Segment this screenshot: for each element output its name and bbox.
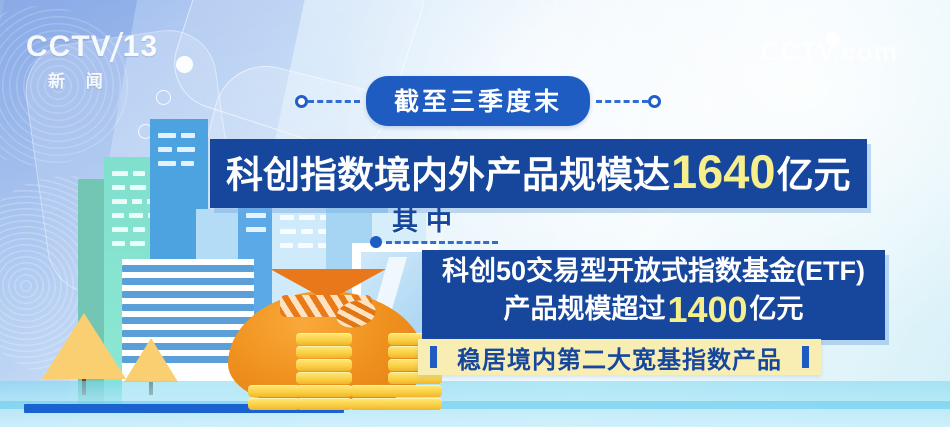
logo-channel-number: 13 <box>123 30 158 64</box>
tree-crown <box>42 313 126 379</box>
connector-group: 其中 <box>370 201 498 248</box>
pill-endcap-left-icon <box>295 95 308 108</box>
coin-icon <box>248 398 300 410</box>
ribbon-banner: 稳居境内第二大宽基指数产品 <box>418 339 821 375</box>
coin-icon <box>296 385 352 397</box>
header-pill-row: 截至三季度末 <box>295 76 661 126</box>
headline-prefix: 科创指数境内外产品规模达 <box>226 155 670 196</box>
header-pill-label: 截至三季度末 <box>366 76 590 126</box>
coin-stack <box>296 333 352 411</box>
detail-banner: 科创50交易型开放式指数基金(ETF) 产品规模超过1400亿元 <box>422 250 885 340</box>
coin-stacks-illustration <box>248 335 438 411</box>
connector-dashed-line <box>386 241 498 244</box>
pill-dash-left <box>308 100 360 103</box>
coin-icon <box>296 346 352 358</box>
coin-icon <box>296 372 352 384</box>
coin-icon <box>296 398 352 410</box>
ribbon-bar-right-icon <box>802 346 809 368</box>
logo-cctv-text: CCTV <box>26 30 112 64</box>
coin-icon <box>296 333 352 345</box>
pill-endcap-right-icon <box>648 95 661 108</box>
detail-line-2-suffix: 亿元 <box>750 294 804 324</box>
detail-line-2-number: 1400 <box>665 289 749 330</box>
coin-icon <box>388 385 442 397</box>
headline-number: 1640 <box>670 145 777 198</box>
pill-dash-right <box>596 100 648 103</box>
ribbon-bar-left-icon <box>430 346 437 368</box>
connector-label: 其中 <box>392 201 498 238</box>
coin-icon <box>388 398 442 410</box>
coin-icon <box>296 359 352 371</box>
chain-dot-icon <box>826 32 840 46</box>
chain-dot-icon <box>176 56 193 73</box>
detail-line-1: 科创50交易型开放式指数基金(ETF) <box>442 256 865 287</box>
tree-crown <box>124 338 178 382</box>
ribbon-label: 稳居境内第二大宽基指数产品 <box>457 340 782 375</box>
coin-icon <box>248 385 300 397</box>
main-headline-banner: 科创指数境内外产品规模达1640亿元 <box>210 139 867 208</box>
logo-main-row: CCTV 13 <box>26 30 158 64</box>
headline-suffix: 亿元 <box>777 155 851 196</box>
detail-line-2-prefix: 产品规模超过 <box>503 294 665 324</box>
chain-dot-icon <box>806 64 820 78</box>
connector-dot-icon <box>370 236 382 248</box>
detail-line-2: 产品规模超过1400亿元 <box>442 289 865 330</box>
coin-stack <box>248 385 300 411</box>
chain-dot-icon <box>788 96 802 110</box>
broadcast-graphic: CCTV 13 新 闻 CCTV.com <box>0 0 950 427</box>
circle-chain-decoration-right <box>772 30 862 140</box>
hexagon-outline-icon <box>531 0 822 149</box>
cctv-watermark: CCTV.com <box>761 36 898 67</box>
